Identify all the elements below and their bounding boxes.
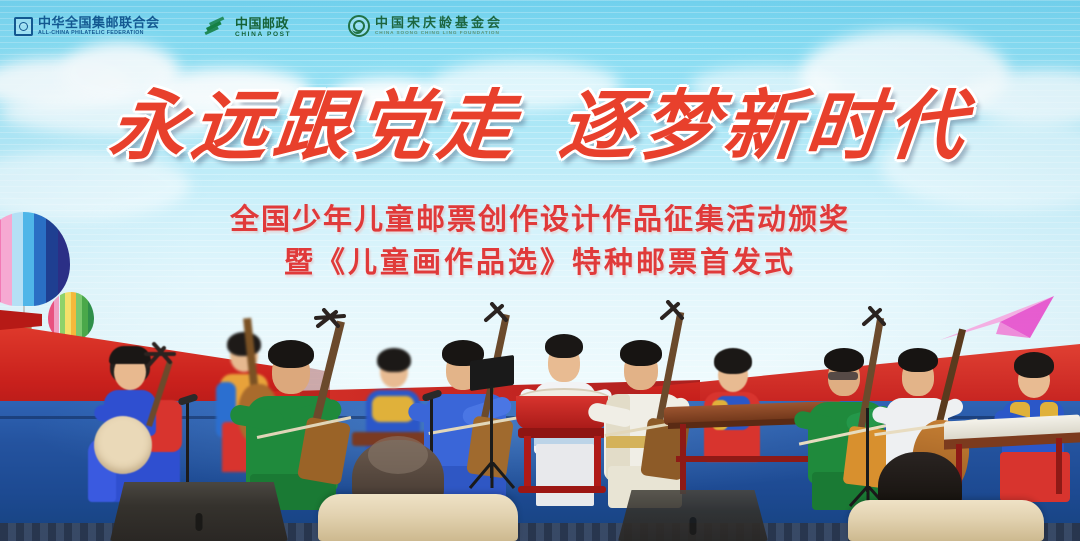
logo-china-post: 中国邮政 CHINA POST bbox=[204, 15, 290, 40]
logo-en-text: ALL-CHINA PHILATELIC FEDERATION bbox=[38, 31, 162, 36]
stage-monitor-left bbox=[110, 482, 288, 541]
audience-chair-back bbox=[318, 494, 518, 541]
logo-cn-text: 中国邮政 bbox=[235, 17, 290, 30]
main-title: 永远跟党走逐梦新时代 bbox=[0, 88, 1080, 164]
event-photo: 中华全国集邮联合会 ALL-CHINA PHILATELIC FEDERATIO… bbox=[0, 0, 1080, 541]
china-post-eagle-icon bbox=[204, 15, 230, 40]
morin-khuur-scroll bbox=[314, 308, 354, 334]
logo-all-china-philatelic-federation: 中华全国集邮联合会 ALL-CHINA PHILATELIC FEDERATIO… bbox=[14, 16, 160, 36]
ruan-headstock bbox=[144, 342, 184, 374]
logo-china-soong-ching-ling-foundation: 中国宋庆龄基金会 CHINA SOONG CHING LING FOUNDATI… bbox=[348, 15, 503, 37]
eyeglasses-icon bbox=[828, 372, 858, 380]
circle-emblem-icon bbox=[348, 15, 370, 37]
title-part-1: 永远跟党走 bbox=[105, 81, 524, 170]
girl-ruan-player bbox=[84, 342, 194, 502]
title-part-2: 逐梦新时代 bbox=[555, 81, 974, 170]
logo-cn-text: 中华全国集邮联合会 bbox=[38, 16, 160, 29]
ruan-body bbox=[94, 416, 152, 474]
morin-khuur-scroll bbox=[658, 300, 694, 326]
logo-en-text: CHINA SOONG CHING LING FOUNDATION bbox=[375, 31, 506, 36]
subtitle-line-2: 暨《儿童画作品选》特种邮票首发式 bbox=[0, 239, 1080, 281]
subtitle-line-1: 全国少年儿童邮票创作设计作品征集活动颁奖 bbox=[0, 196, 1080, 238]
logo-cn-text: 中国宋庆龄基金会 bbox=[375, 16, 503, 29]
logo-en-text: CHINA POST bbox=[235, 32, 291, 38]
morin-khuur-scroll bbox=[482, 302, 518, 328]
square-emblem-icon bbox=[14, 17, 33, 36]
audience-bald-spot bbox=[368, 436, 428, 474]
stage-monitor-right bbox=[618, 490, 768, 541]
sponsor-logo-bar: 中华全国集邮联合会 ALL-CHINA PHILATELIC FEDERATIO… bbox=[0, 0, 1080, 46]
audience-chair-back bbox=[848, 500, 1044, 541]
morin-khuur-scroll bbox=[860, 306, 896, 332]
